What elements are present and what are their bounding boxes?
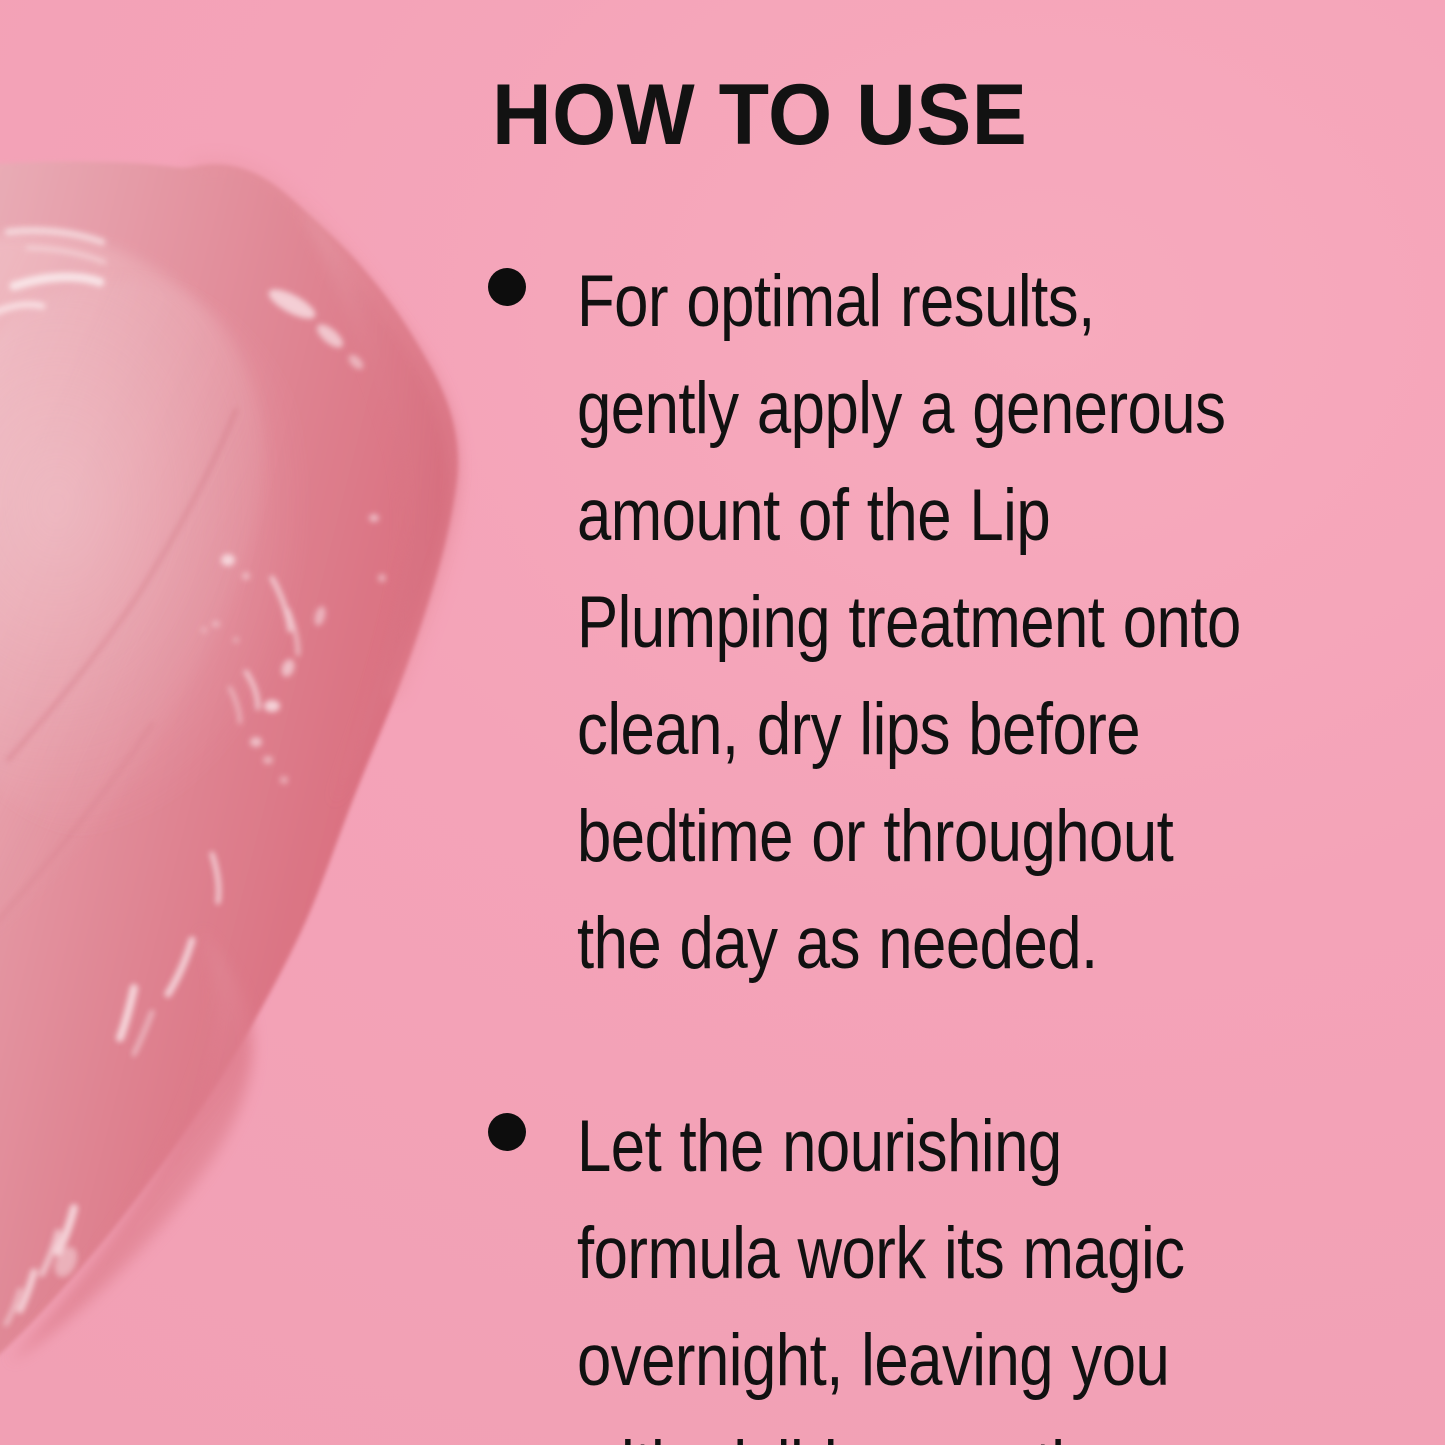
instruction-step-1-text: For optimal results, gently apply a gene…	[577, 248, 1262, 997]
instruction-step-2-text: Let the nourishing formula work its magi…	[577, 1093, 1262, 1445]
instructions-list: For optimal results, gently apply a gene…	[488, 248, 1388, 1445]
instructions-column: HOW TO USE For optimal results, gently a…	[488, 0, 1388, 1445]
bullet-dot-icon	[488, 268, 526, 306]
list-item: For optimal results, gently apply a gene…	[488, 248, 1388, 997]
how-to-use-panel: HOW TO USE For optimal results, gently a…	[0, 0, 1445, 1445]
bullet-dot-icon	[488, 1113, 526, 1151]
list-item: Let the nourishing formula work its magi…	[488, 1093, 1388, 1445]
lip-gloss-smear-image	[0, 0, 560, 1445]
page-title: HOW TO USE	[492, 72, 1027, 158]
